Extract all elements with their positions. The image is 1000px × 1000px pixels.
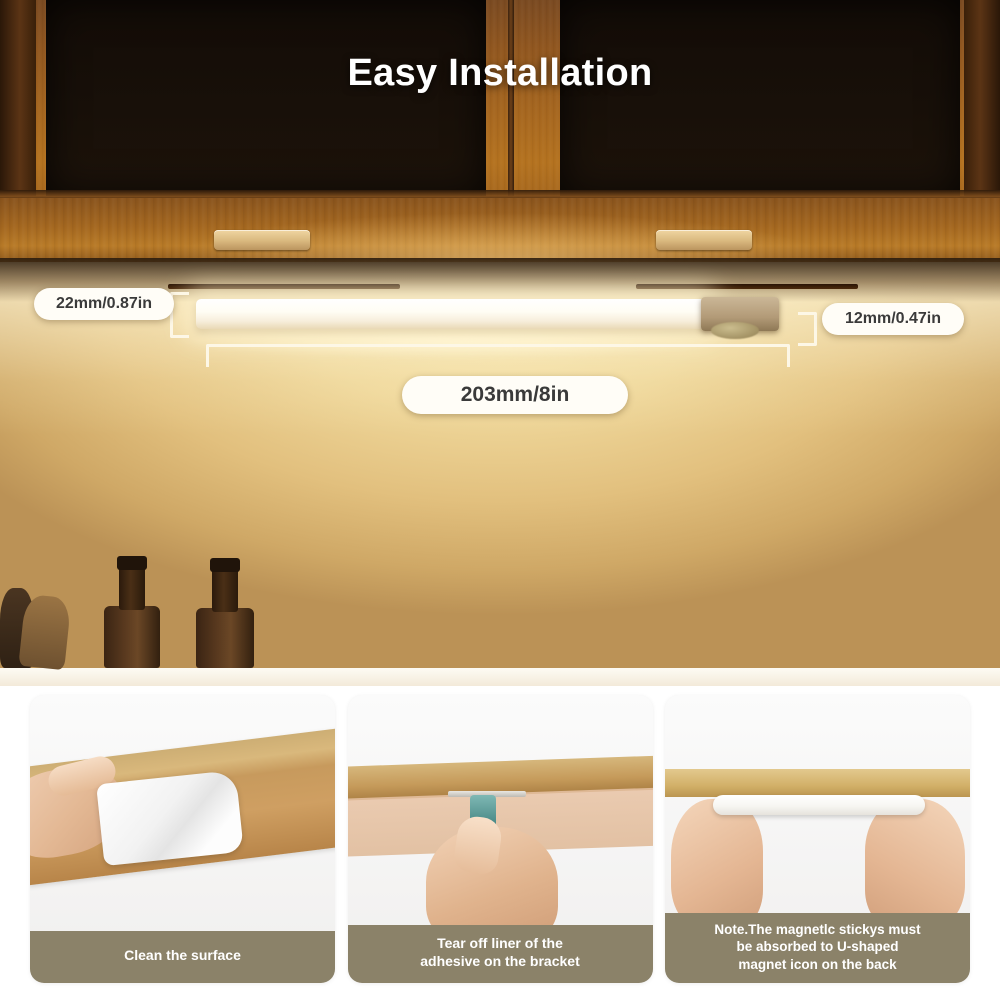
step-card-attach-magnet: Note.The magnetlc stickys must be absorb… (665, 695, 970, 983)
caption-line: Tear off liner of the (356, 935, 645, 953)
depth-label-pill: 12mm/0.47in (822, 303, 964, 335)
depth-label-text: 12mm/0.47in (845, 310, 941, 328)
caption-line: be absorbed to U-shaped (671, 938, 964, 955)
under-cabinet-groove-left (168, 284, 400, 289)
cabinet-lower-face (0, 198, 1000, 262)
product-infographic: 22mm/0.87in 12mm/0.47in 203mm/8in Easy I… (0, 0, 1000, 1000)
height-label-pill: 22mm/0.87in (34, 288, 174, 320)
width-label-text: 203mm/8in (461, 383, 570, 407)
caption-line: Clean the surface (38, 947, 327, 965)
cabinet-side-right (964, 0, 1000, 196)
upper-cabinet (0, 0, 1000, 262)
steps-card-row: Clean the surface Tear off liner of the … (0, 695, 1000, 995)
caption-line: adhesive on the bracket (356, 953, 645, 971)
hand-left (671, 799, 763, 929)
led-diffuser (196, 299, 708, 329)
bottle-neck (119, 566, 145, 610)
installation-steps-strip: Clean the surface Tear off liner of the … (0, 686, 1000, 1000)
tissue-wipe (96, 770, 244, 866)
bottle-2 (196, 608, 254, 668)
cabinet-glass-door-right (560, 0, 960, 196)
hand-right (865, 799, 965, 929)
height-label-text: 22mm/0.87in (56, 295, 152, 313)
depth-measure-bracket (798, 312, 817, 346)
motion-sensor-icon (711, 322, 759, 339)
wooden-shelf (665, 769, 970, 797)
step-caption-3: Note.The magnetlc stickys must be absorb… (665, 913, 970, 983)
cabinet-handle-left (214, 230, 310, 250)
led-light-bar (196, 296, 796, 338)
cabinet-door-divider (508, 0, 514, 196)
caption-line: Note.The magnetlc stickys must (671, 921, 964, 938)
bottle-cap (117, 556, 147, 570)
cabinet-side-left (0, 0, 36, 196)
page-title: Easy Installation (0, 52, 1000, 95)
step-card-tear-off-liner: Tear off liner of the adhesive on the br… (348, 695, 653, 983)
step-caption-1: Clean the surface (30, 931, 335, 983)
under-cabinet-groove-right (636, 284, 858, 289)
caption-line: magnet icon on the back (671, 956, 964, 973)
step-caption-2: Tear off liner of the adhesive on the br… (348, 925, 653, 983)
width-label-pill: 203mm/8in (402, 376, 628, 414)
countertop (0, 668, 1000, 686)
step-card-clean-surface: Clean the surface (30, 695, 335, 983)
cabinet-glass-door-left (46, 0, 486, 196)
bottle-cap (210, 558, 240, 572)
bottle-neck (212, 568, 238, 612)
width-measure-bracket (206, 344, 790, 367)
hero-kitchen-photo: 22mm/0.87in 12mm/0.47in 203mm/8in Easy I… (0, 0, 1000, 686)
cabinet-handle-right (656, 230, 752, 250)
led-light-bar-small (713, 795, 925, 815)
bottle-1 (104, 606, 160, 668)
